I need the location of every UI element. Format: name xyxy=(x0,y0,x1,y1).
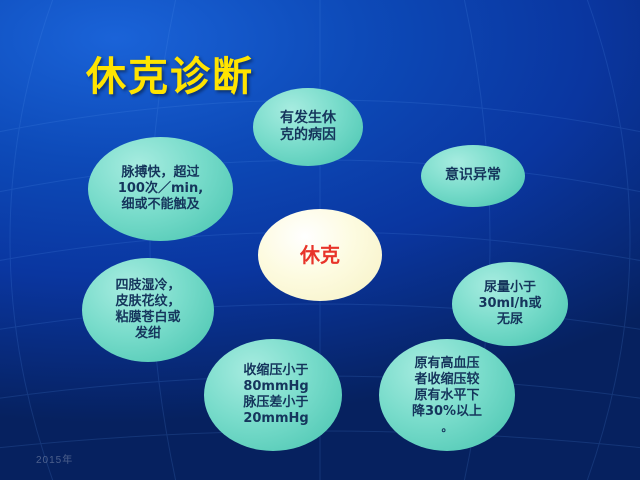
node-pulse-line-3: 细或不能触及 xyxy=(118,197,203,213)
node-blood-pressure-line-3: 脉压差小于 xyxy=(243,395,308,411)
node-blood-pressure-line-2: 80mmHg xyxy=(243,379,308,395)
node-hypertension-line-2: 者收缩压较 xyxy=(412,372,482,388)
node-blood-pressure-line-4: 20mmHg xyxy=(243,411,308,427)
node-hypertension[interactable]: 原有高血压 者收缩压较 原有水平下 降30%以上 。 xyxy=(379,339,515,451)
node-skin-line-2: 皮肤花纹， xyxy=(115,294,180,310)
node-cause-line-1: 有发生休 xyxy=(280,110,336,128)
node-consciousness[interactable]: 意识异常 xyxy=(421,145,525,207)
node-hypertension-line-1: 原有高血压 xyxy=(412,356,482,372)
node-blood-pressure[interactable]: 收缩压小于 80mmHg 脉压差小于 20mmHg xyxy=(204,339,342,451)
node-pulse-line-1: 脉搏快，超过 xyxy=(118,165,203,181)
node-hypertension-line-3: 原有水平下 xyxy=(412,388,482,404)
node-skin[interactable]: 四肢湿冷， 皮肤花纹， 粘膜苍白或 发绀 xyxy=(82,258,214,362)
node-hypertension-line-4: 降30%以上 xyxy=(412,404,482,420)
page-title: 休克诊断 xyxy=(86,44,254,102)
node-urine[interactable]: 尿量小于 30ml/h或 无尿 xyxy=(452,262,568,346)
node-skin-line-4: 发绀 xyxy=(115,326,180,342)
node-skin-line-1: 四肢湿冷， xyxy=(115,278,180,294)
node-hypertension-line-5: 。 xyxy=(412,421,482,435)
node-pulse[interactable]: 脉搏快，超过 100次／min, 细或不能触及 xyxy=(88,137,233,241)
node-urine-line-1: 尿量小于 xyxy=(478,280,541,296)
node-skin-line-3: 粘膜苍白或 xyxy=(115,310,180,326)
node-urine-line-3: 无尿 xyxy=(478,312,541,328)
node-cause[interactable]: 有发生休 克的病因 xyxy=(253,88,363,166)
node-urine-line-2: 30ml/h或 xyxy=(478,296,541,312)
node-pulse-line-2: 100次／min, xyxy=(118,181,203,197)
node-cause-line-2: 克的病因 xyxy=(280,127,336,145)
slide-canvas: 休克诊断 有发生休 克的病因 意识异常 脉搏快，超过 100次／min, 细或不… xyxy=(0,0,640,480)
node-consciousness-line-1: 意识异常 xyxy=(445,167,501,185)
watermark: 2015年 xyxy=(36,451,73,466)
node-center-shock-label: 休克 xyxy=(300,243,340,268)
node-blood-pressure-line-1: 收缩压小于 xyxy=(243,363,308,379)
node-center-shock[interactable]: 休克 xyxy=(258,209,382,301)
